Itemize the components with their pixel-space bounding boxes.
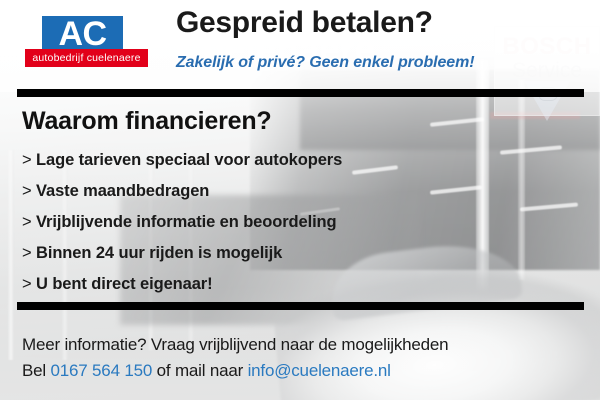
mail-prefix-label: of mail naar bbox=[157, 361, 243, 380]
list-item-label: Binnen 24 uur rijden is mogelijk bbox=[36, 244, 282, 262]
benefits-list: > Lage tarieven speciaal voor autokopers… bbox=[22, 145, 562, 300]
section-title: Waarom financieren? bbox=[22, 107, 272, 136]
footer-info-line: Meer informatie? Vraag vrijblijvend naar… bbox=[22, 332, 582, 358]
list-item-label: Lage tarieven speciaal voor autokopers bbox=[36, 151, 342, 169]
list-item: > Vaste maandbedragen bbox=[22, 176, 562, 207]
autobedrijf-cuelenaere-logo[interactable]: AC autobedrijf cuelenaere bbox=[25, 10, 149, 67]
logo-blue-box: AC bbox=[42, 16, 123, 52]
bullet-marker-icon: > bbox=[22, 213, 32, 231]
bullet-marker-icon: > bbox=[22, 244, 32, 262]
subheadline: Zakelijk of privé? Geen enkel probleem! bbox=[176, 54, 474, 72]
logo-tagline-bar: autobedrijf cuelenaere bbox=[25, 49, 148, 67]
list-item-label: Vrijblijvende informatie en beoordeling bbox=[36, 213, 337, 231]
financing-advertisement-banner: BOSCH Service Cuelenaere AC autobedrijf … bbox=[0, 0, 600, 400]
list-item: > U bent direct eigenaar! bbox=[22, 269, 562, 300]
list-item-label: U bent direct eigenaar! bbox=[36, 275, 213, 293]
call-prefix-label: Bel bbox=[22, 361, 46, 380]
list-item-label: Vaste maandbedragen bbox=[36, 182, 209, 200]
divider-rule-bottom bbox=[17, 302, 584, 310]
list-item: > Lage tarieven speciaal voor autokopers bbox=[22, 145, 562, 176]
headline: Gespreid betalen? bbox=[176, 6, 433, 40]
phone-number-link[interactable]: 0167 564 150 bbox=[51, 361, 153, 380]
bullet-marker-icon: > bbox=[22, 151, 32, 169]
list-item: > Vrijblijvende informatie en beoordelin… bbox=[22, 207, 562, 238]
bullet-marker-icon: > bbox=[22, 182, 32, 200]
footer-contact-line: Bel 0167 564 150 of mail naar info@cuele… bbox=[22, 358, 582, 384]
contact-footer: Meer informatie? Vraag vrijblijvend naar… bbox=[22, 332, 582, 384]
list-item: > Binnen 24 uur rijden is mogelijk bbox=[22, 238, 562, 269]
divider-rule-top bbox=[17, 89, 584, 97]
email-address-link[interactable]: info@cuelenaere.nl bbox=[248, 361, 391, 380]
logo-initials: AC bbox=[42, 16, 123, 52]
bullet-marker-icon: > bbox=[22, 275, 32, 293]
